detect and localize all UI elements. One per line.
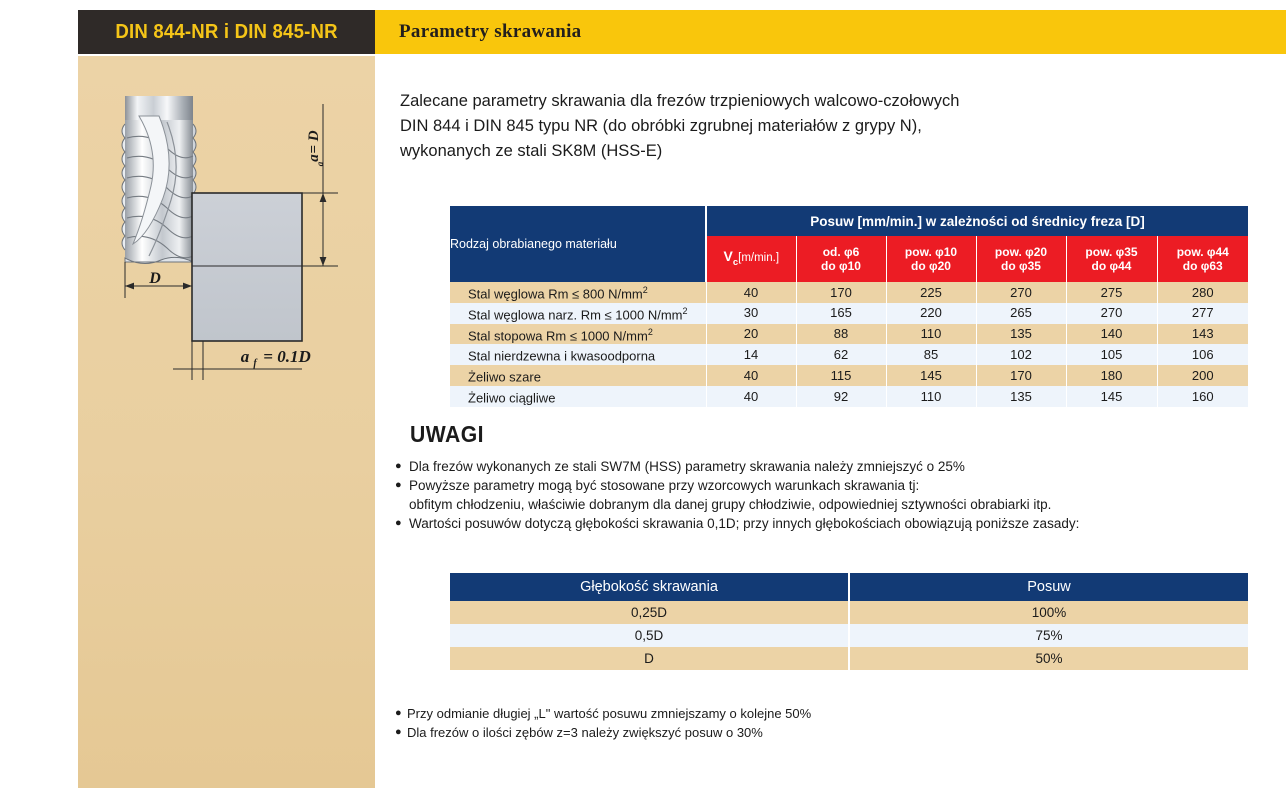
value-d35-d44: 270 [1066, 303, 1157, 324]
table-row: Stal stopowa Rm ≤ 1000 N/mm2 20 88 110 1… [450, 324, 1248, 345]
note-text: Dla frezów o ilości zębów z=3 należy zwi… [407, 725, 763, 740]
bullet-icon: ● [395, 457, 402, 476]
vc-symbol: Vc [723, 248, 738, 264]
note-item: ● Dla frezów o ilości zębów z=3 należy z… [393, 723, 1273, 742]
intro-line-3: wykonanych ze stali SK8M (HSS-E) [400, 139, 1050, 164]
page-title-bar: Parametry skrawania [375, 10, 1286, 54]
table-row: Żeliwo szare 40 115 145 170 180 200 [450, 365, 1248, 386]
value-d20-d35: 102 [976, 344, 1066, 365]
value-d10-d20: 110 [886, 386, 976, 407]
col5-line2: do φ63 [1183, 259, 1223, 273]
value-d10-d20: 225 [886, 282, 976, 303]
value-d35-d44: 180 [1066, 365, 1157, 386]
col-header-d10-d20: pow. φ10 do φ20 [886, 236, 976, 282]
svg-text:= D: = D [306, 130, 322, 153]
material-name: Stal węglowa narz. Rm ≤ 1000 N/mm2 [450, 303, 706, 324]
workpiece [192, 193, 336, 341]
note-text: Powyższe parametry mogą być stosowane pr… [409, 478, 919, 493]
note-text: Dla frezów wykonanych ze stali SW7M (HSS… [409, 459, 965, 474]
table-row: Stal nierdzewna i kwasoodporna 14 62 85 … [450, 344, 1248, 365]
note-item: ● Wartości posuwów dotyczą głębokości sk… [393, 514, 1273, 533]
table-row: 0,5D 75% [450, 624, 1248, 647]
feed-value: 75% [849, 624, 1248, 647]
material-name: Żeliwo szare [450, 365, 706, 386]
standard-badge: DIN 844-NR i DIN 845-NR [78, 10, 375, 54]
col-header-d20-d35: pow. φ20 do φ35 [976, 236, 1066, 282]
bottom-notes-list: ● Przy odmianie długiej „L" wartość posu… [393, 704, 1273, 742]
value-vc: 30 [706, 303, 796, 324]
col1-line2: do φ10 [821, 259, 861, 273]
svg-text:f: f [253, 358, 258, 369]
cutting-diagram: a a = D D a f = 0.1D [95, 80, 365, 410]
value-d10-d20: 220 [886, 303, 976, 324]
page-title: Parametry skrawania [399, 21, 581, 43]
depth-value: D [450, 647, 849, 670]
standard-label: DIN 844-NR i DIN 845-NR [115, 21, 337, 44]
table-row: D 50% [450, 647, 1248, 670]
note-item: ● Dla frezów wykonanych ze stali SW7M (H… [393, 457, 1273, 476]
col-header-d35-d44: pow. φ35 do φ44 [1066, 236, 1157, 282]
value-d20-d35: 170 [976, 365, 1066, 386]
value-d6-d10: 62 [796, 344, 886, 365]
axial-depth-label: a [306, 154, 322, 162]
col4-line2: do φ44 [1092, 259, 1132, 273]
bullet-icon: ● [395, 514, 402, 533]
content-area: Zalecane parametry skrawania dla frezów … [375, 56, 1286, 795]
value-d44-d63: 277 [1157, 303, 1248, 324]
col1-line1: od. φ6 [823, 245, 860, 259]
catalog-page: DIN 844-NR i DIN 845-NR Parametry skrawa… [0, 0, 1286, 795]
col2-line2: do φ20 [911, 259, 951, 273]
value-d35-d44: 140 [1066, 324, 1157, 345]
col2-line1: pow. φ10 [905, 245, 957, 259]
value-d20-d35: 135 [976, 324, 1066, 345]
radial-depth-label: a [241, 347, 250, 366]
value-d35-d44: 275 [1066, 282, 1157, 303]
material-column-header: Rodzaj obrabianego materiału [450, 206, 706, 282]
bullet-icon: ● [395, 723, 402, 742]
bullet-icon: ● [395, 704, 402, 723]
intro-line-2: DIN 844 i DIN 845 typu NR (do obróbki zg… [400, 114, 1050, 139]
depth-feed-table: Głębokość skrawania Posuw 0,25D 100% 0,5… [450, 573, 1248, 670]
table-row: Stal węglowa narz. Rm ≤ 1000 N/mm2 30 16… [450, 303, 1248, 324]
feed-value: 100% [849, 601, 1248, 624]
col4-line1: pow. φ35 [1085, 245, 1137, 259]
value-d6-d10: 115 [796, 365, 886, 386]
notes-heading: UWAGI [410, 421, 484, 448]
value-vc: 20 [706, 324, 796, 345]
note-item: ● Przy odmianie długiej „L" wartość posu… [393, 704, 1273, 723]
col3-line2: do φ35 [1001, 259, 1041, 273]
end-mill-body [122, 96, 196, 264]
value-d44-d63: 160 [1157, 386, 1248, 407]
svg-text:= 0.1D: = 0.1D [263, 347, 310, 366]
value-d35-d44: 145 [1066, 386, 1157, 407]
table-row: Żeliwo ciągliwe 40 92 110 135 145 160 [450, 386, 1248, 407]
svg-text:a: a [315, 161, 325, 166]
material-name: Żeliwo ciągliwe [450, 386, 706, 407]
value-vc: 40 [706, 365, 796, 386]
note-text: Wartości posuwów dotyczą głębokości skra… [409, 516, 1079, 531]
col3-line1: pow. φ20 [995, 245, 1047, 259]
value-vc: 40 [706, 282, 796, 303]
col-header-d6-d10: od. φ6 do φ10 [796, 236, 886, 282]
depth-table-header-row: Głębokość skrawania Posuw [450, 573, 1248, 601]
depth-column-header: Głębokość skrawania [450, 573, 849, 601]
table-row: Stal węglowa Rm ≤ 800 N/mm2 40 170 225 2… [450, 282, 1248, 303]
value-vc: 14 [706, 344, 796, 365]
value-d35-d44: 105 [1066, 344, 1157, 365]
intro-text: Zalecane parametry skrawania dla frezów … [400, 89, 1050, 164]
value-d6-d10: 92 [796, 386, 886, 407]
intro-line-1: Zalecane parametry skrawania dla frezów … [400, 89, 1050, 114]
value-d44-d63: 106 [1157, 344, 1248, 365]
value-d20-d35: 265 [976, 303, 1066, 324]
value-d44-d63: 280 [1157, 282, 1248, 303]
value-d10-d20: 145 [886, 365, 976, 386]
value-d10-d20: 85 [886, 344, 976, 365]
value-d10-d20: 110 [886, 324, 976, 345]
cutting-parameters-table: Rodzaj obrabianego materiału Posuw [mm/m… [450, 206, 1248, 407]
value-d6-d10: 170 [796, 282, 886, 303]
depth-value: 0,5D [450, 624, 849, 647]
vc-unit: [m/min.] [738, 252, 779, 264]
axial-depth-dimension [302, 104, 338, 266]
table-row: 0,25D 100% [450, 601, 1248, 624]
feed-column-header: Posuw [849, 573, 1248, 601]
value-d20-d35: 270 [976, 282, 1066, 303]
feed-span-header: Posuw [mm/min.] w zależności od średnicy… [706, 206, 1248, 236]
note-item: ● Powyższe parametry mogą być stosowane … [393, 476, 1273, 514]
value-vc: 40 [706, 386, 796, 407]
feed-value: 50% [849, 647, 1248, 670]
value-d20-d35: 135 [976, 386, 1066, 407]
value-d6-d10: 165 [796, 303, 886, 324]
note-continuation: obfitym chłodzeniu, właściwie dobranym d… [409, 495, 1273, 514]
value-d44-d63: 143 [1157, 324, 1248, 345]
col-header-d44-d63: pow. φ44 do φ63 [1157, 236, 1248, 282]
notes-list: ● Dla frezów wykonanych ze stali SW7M (H… [393, 457, 1273, 533]
col-header-vc: Vc[m/min.] [706, 236, 796, 282]
value-d6-d10: 88 [796, 324, 886, 345]
table-header-row-top: Rodzaj obrabianego materiału Posuw [mm/m… [450, 206, 1248, 236]
diameter-label: D [148, 270, 161, 287]
value-d44-d63: 200 [1157, 365, 1248, 386]
material-name: Stal nierdzewna i kwasoodporna [450, 344, 706, 365]
material-name: Stal węglowa Rm ≤ 800 N/mm2 [450, 282, 706, 303]
bullet-icon: ● [395, 476, 402, 495]
col5-line1: pow. φ44 [1177, 245, 1229, 259]
note-text: Przy odmianie długiej „L" wartość posuwu… [407, 706, 811, 721]
material-name: Stal stopowa Rm ≤ 1000 N/mm2 [450, 324, 706, 345]
depth-value: 0,25D [450, 601, 849, 624]
